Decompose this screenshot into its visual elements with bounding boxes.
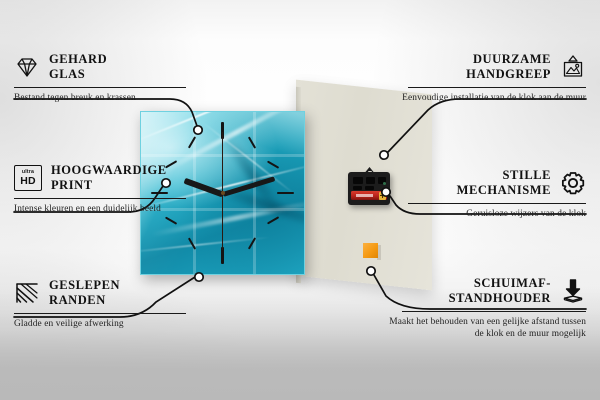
infographic-canvas: GEHARD GLAS Bestand tegen breuk en krass… xyxy=(0,0,600,400)
feature-header: STILLE MECHANISME xyxy=(394,168,586,199)
ultra-hd-icon-large-label: HD xyxy=(20,176,36,187)
feature-header: DUURZAME HANDGREEP xyxy=(394,52,586,83)
mechanism-detail xyxy=(353,177,363,184)
down-arrow-pad-icon xyxy=(560,278,586,304)
feature-divider xyxy=(14,87,186,88)
feature-description: Gladde en veilige afwerking xyxy=(14,318,200,331)
feature-header: SCHUIMAF- STANDHOUDER xyxy=(388,276,586,307)
feature-title: GEHARD GLAS xyxy=(49,52,107,83)
feature-title: STILLE MECHANISME xyxy=(457,168,551,199)
feature-geslepen-randen: GESLEPEN RANDEN Gladde en veilige afwerk… xyxy=(14,278,200,330)
feature-divider xyxy=(408,203,586,204)
feature-gehard-glas: GEHARD GLAS Bestand tegen breuk en krass… xyxy=(14,52,200,104)
mechanism-detail xyxy=(365,186,374,190)
feature-title-line: GEHARD xyxy=(49,52,107,67)
bevelled-edge-icon xyxy=(14,280,40,306)
feature-divider xyxy=(402,311,586,312)
feature-title-line: MECHANISME xyxy=(457,183,551,198)
feature-description: Maakt het behouden van een gelijke afsta… xyxy=(388,316,586,341)
feature-title-line: PRINT xyxy=(51,178,167,193)
feature-title-line: DUURZAME xyxy=(466,52,551,67)
clock-hand-hub xyxy=(221,191,225,195)
foam-standoff xyxy=(363,243,381,260)
feature-title-line: RANDEN xyxy=(49,293,120,308)
feature-title-line: HANDGREEP xyxy=(466,67,551,82)
feature-description: Eenvoudige installatie van de klok aan d… xyxy=(394,92,586,105)
feature-header: ultra HD HOOGWAARDIGE PRINT xyxy=(14,163,200,194)
feature-title-line: STANDHOUDER xyxy=(449,291,551,306)
feature-header: GEHARD GLAS xyxy=(14,52,200,83)
feature-title-line: GLAS xyxy=(49,67,107,82)
feature-divider xyxy=(408,87,586,88)
mechanism-detail xyxy=(366,177,375,184)
mechanism-detail xyxy=(353,186,362,190)
feature-hoogwaardige-print: ultra HD HOOGWAARDIGE PRINT Intense kleu… xyxy=(14,163,200,215)
clock-mechanism xyxy=(348,167,390,205)
diamond-icon xyxy=(14,54,40,80)
feature-title-line: SCHUIMAF- xyxy=(449,276,551,291)
gear-icon xyxy=(560,170,586,196)
clock-tick-3 xyxy=(277,192,294,195)
feature-title: DUURZAME HANDGREEP xyxy=(466,52,551,83)
battery-positive-terminal xyxy=(379,192,386,200)
feature-header: GESLEPEN RANDEN xyxy=(14,278,200,309)
battery-label xyxy=(356,194,373,197)
hanging-picture-icon xyxy=(560,54,586,80)
feature-schuimafstandhouder: SCHUIMAF- STANDHOUDER Maakt het behouden… xyxy=(388,276,586,341)
feature-stille-mechanisme: STILLE MECHANISME Geruisloze wijzers van… xyxy=(394,168,586,220)
feature-description: Bestand tegen breuk en krassen xyxy=(14,92,200,105)
mechanism-indicator xyxy=(383,182,386,185)
feature-description: Geruisloze wijzers van de klok xyxy=(394,208,586,221)
feature-title-line: STILLE xyxy=(457,168,551,183)
feature-title-line: HOOGWAARDIGE xyxy=(51,163,167,178)
feature-title: SCHUIMAF- STANDHOUDER xyxy=(449,276,551,307)
feature-duurzame-handgreep: DUURZAME HANDGREEP Eenvoudige installati… xyxy=(394,52,586,104)
feature-divider xyxy=(14,198,186,199)
feature-divider xyxy=(14,313,186,314)
feature-title-line: GESLEPEN xyxy=(49,278,120,293)
feature-description: Intense kleuren en een duidelijk beeld xyxy=(14,203,200,216)
foam-standoff-face xyxy=(363,243,378,258)
ultra-hd-icon: ultra HD xyxy=(14,165,42,191)
feature-title: HOOGWAARDIGE PRINT xyxy=(51,163,167,194)
feature-title: GESLEPEN RANDEN xyxy=(49,278,120,309)
